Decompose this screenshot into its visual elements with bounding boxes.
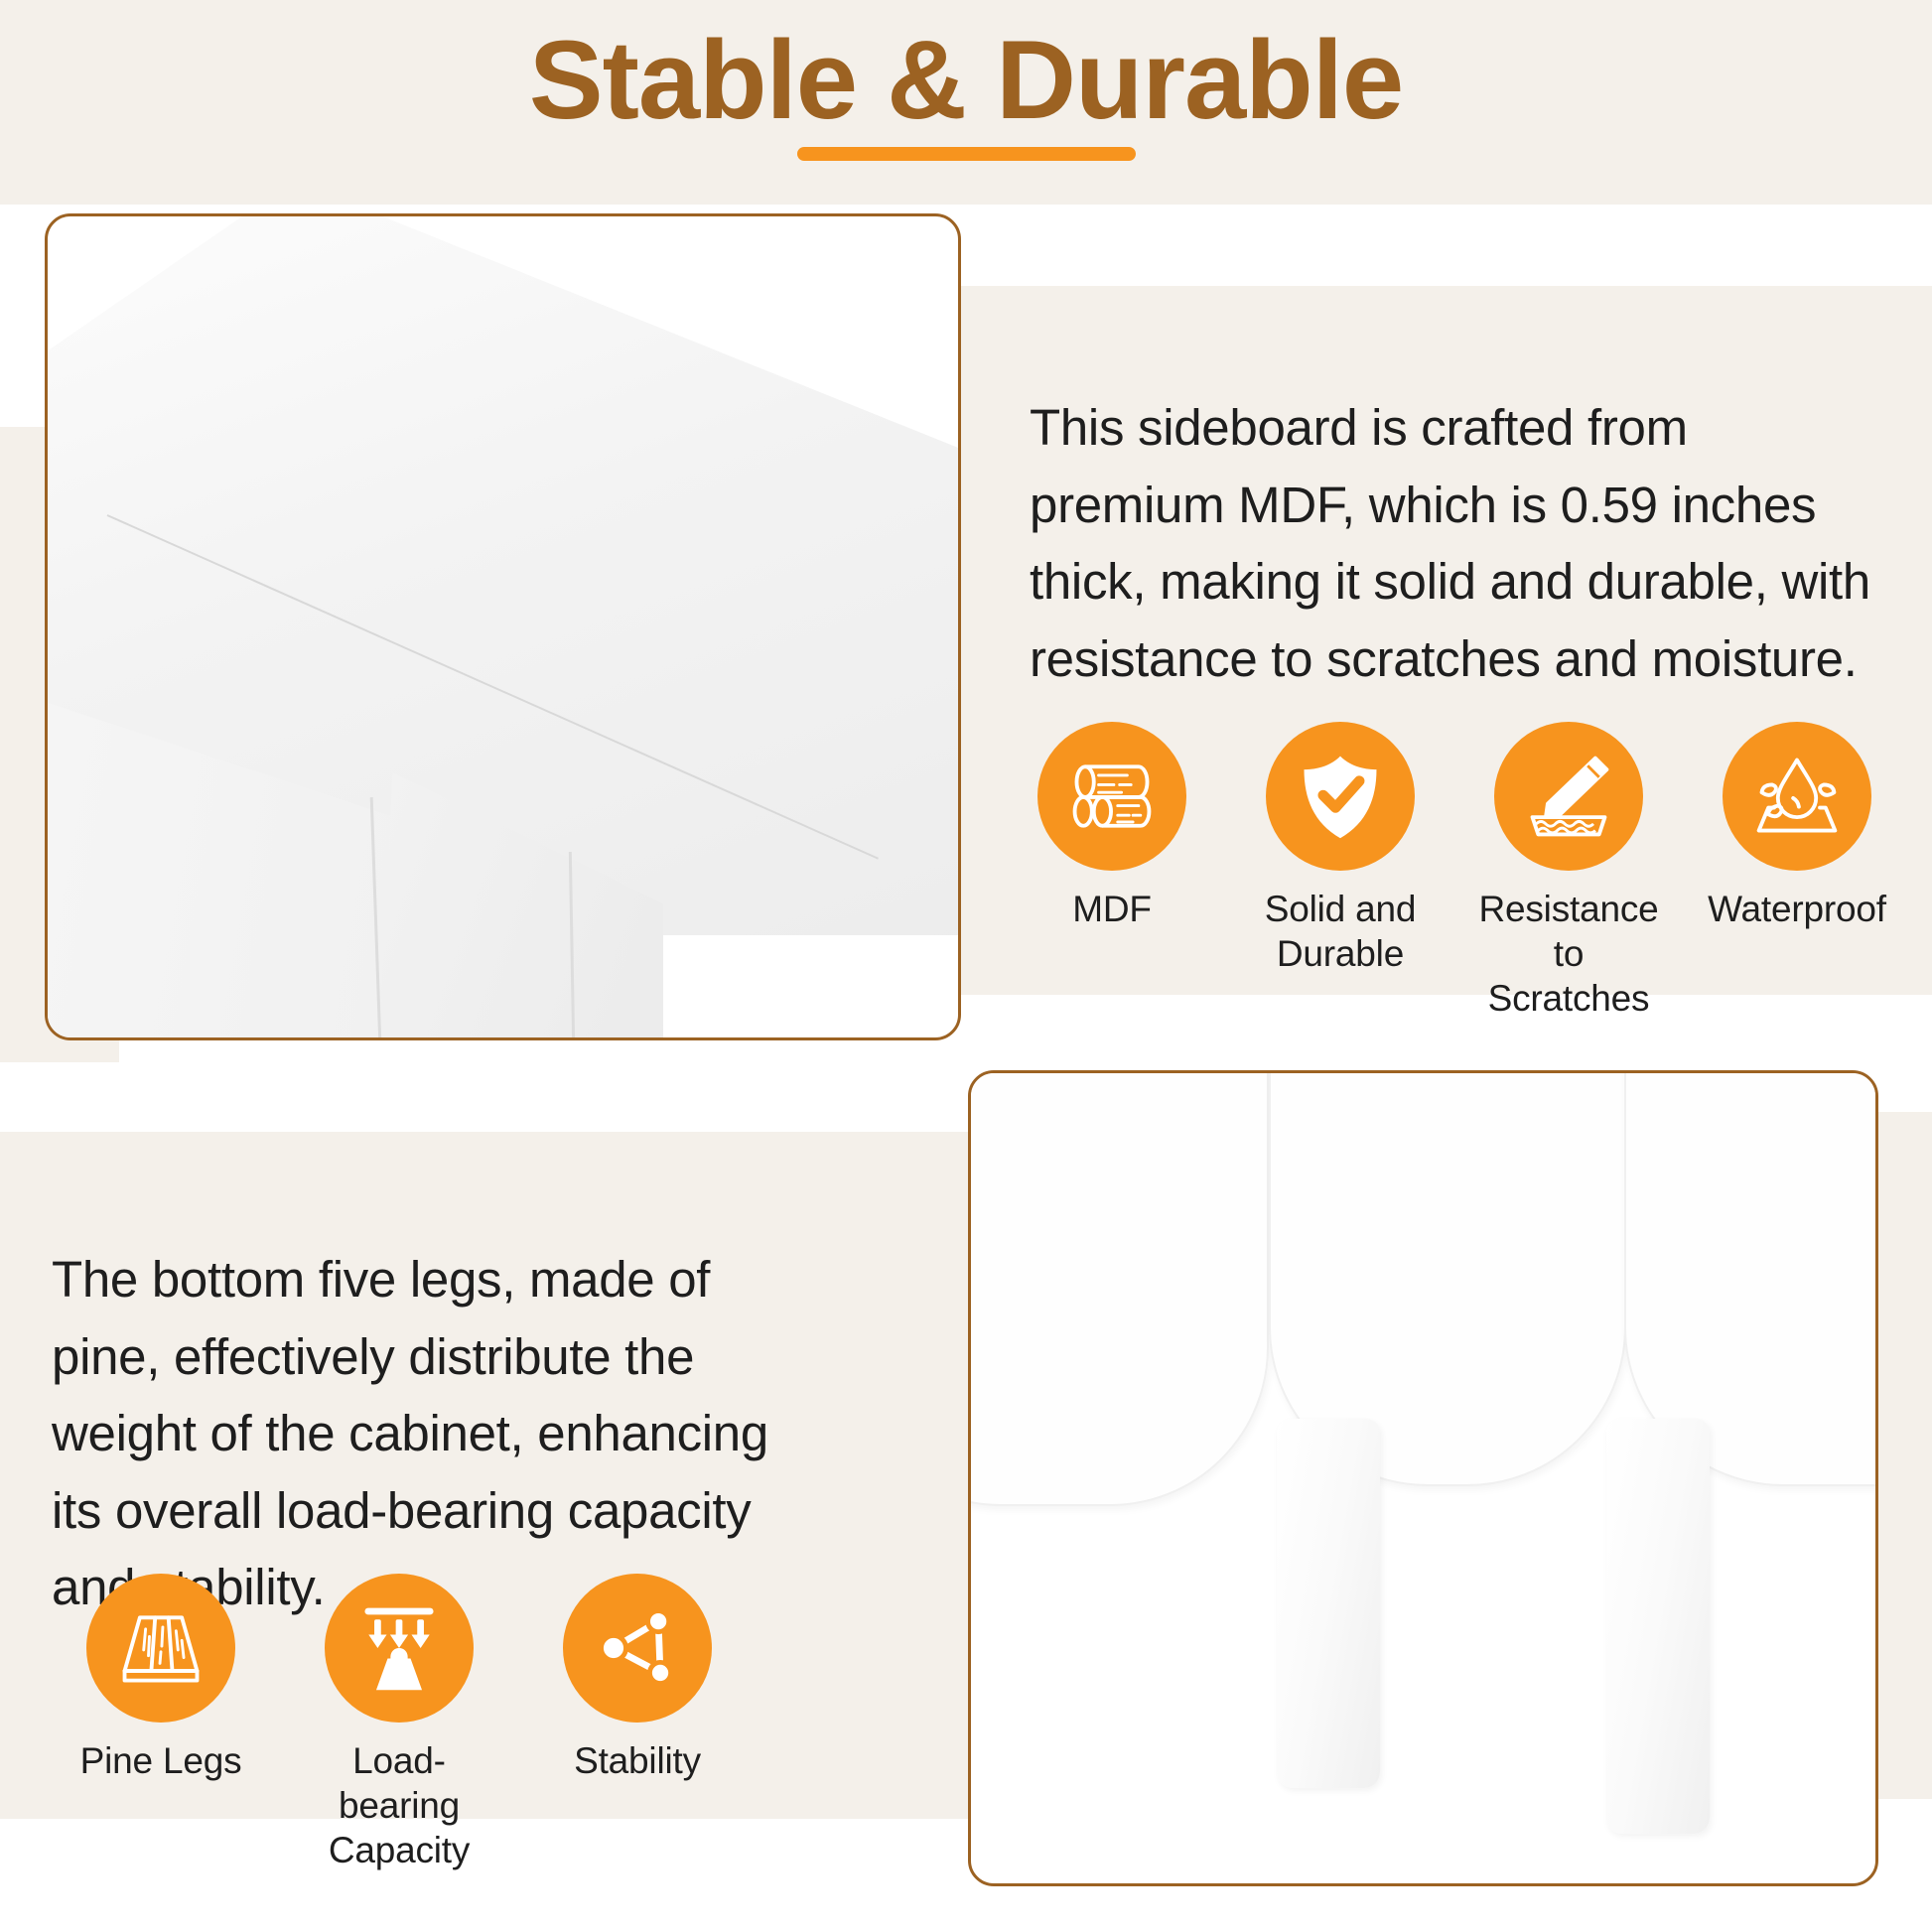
shield-check-icon — [1266, 722, 1415, 871]
feature-label: MDF — [1072, 887, 1152, 931]
pine-leg-right — [1606, 1419, 1710, 1834]
pine-leg-left — [1277, 1419, 1380, 1788]
feature-pine-legs: Pine Legs — [71, 1574, 250, 1783]
feature-load-bearing: Load-bearing Capacity — [310, 1574, 488, 1872]
feature-label: Solid and Durable — [1265, 887, 1417, 976]
title-underline-bar — [797, 147, 1136, 161]
cabinet-corner-photo-card — [45, 213, 961, 1040]
feature-stability: Stability — [548, 1574, 727, 1783]
feature-waterproof: Waterproof — [1708, 722, 1886, 931]
logs-icon — [1037, 722, 1186, 871]
scratch-resistance-icon — [1494, 722, 1643, 871]
load-weight-icon — [325, 1574, 474, 1723]
feature-label: Resistance to Scratches — [1478, 887, 1658, 1021]
feature-resistance-scratches: Resistance to Scratches — [1479, 722, 1658, 1021]
feature-solid-durable: Solid and Durable — [1251, 722, 1430, 976]
feature-label: Stability — [574, 1738, 701, 1783]
cabinet-legs-photo-card — [968, 1070, 1878, 1886]
feature-label: Waterproof — [1708, 887, 1886, 931]
waterproof-droplet-icon — [1723, 722, 1871, 871]
wood-planks-icon — [86, 1574, 235, 1723]
feature-mdf: MDF — [1023, 722, 1201, 931]
network-nodes-icon — [563, 1574, 712, 1723]
feature-label: Load-bearing Capacity — [310, 1738, 488, 1872]
legs-paragraph: The bottom five legs, made of pine, effe… — [52, 1241, 796, 1626]
feature-label: Pine Legs — [80, 1738, 242, 1783]
legs-feature-row: Pine Legs Load-bea — [71, 1574, 727, 1872]
infographic-page: Stable & Durable This sideboard is craft… — [0, 0, 1932, 1932]
scallop-panel-left — [968, 1070, 1269, 1506]
page-title: Stable & Durable — [0, 18, 1932, 142]
material-paragraph: This sideboard is crafted from premium M… — [1030, 389, 1883, 697]
material-feature-row: MDF Solid and Durable Res — [1023, 722, 1886, 1021]
